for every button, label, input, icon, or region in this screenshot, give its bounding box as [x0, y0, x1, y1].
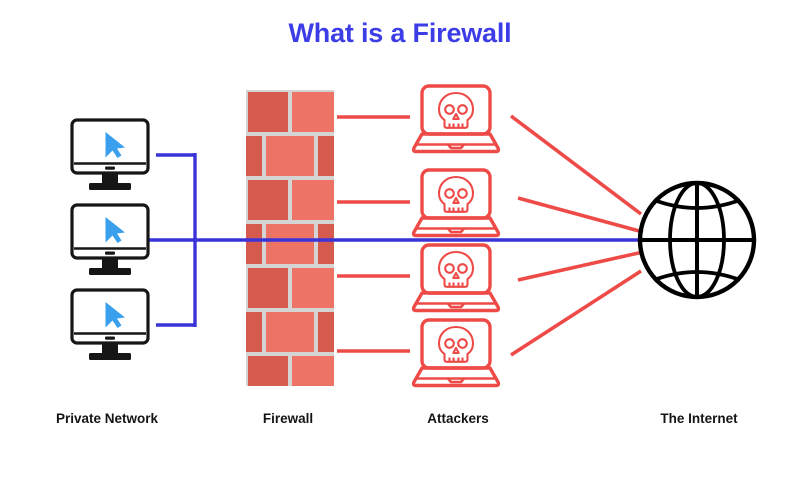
attacker-devices [414, 86, 499, 386]
label-private-network: Private Network [22, 411, 192, 426]
monitor-3[interactable] [72, 290, 148, 360]
attacker-laptop-4[interactable] [414, 320, 499, 386]
attacker-laptop-3[interactable] [414, 245, 499, 311]
firewall-diagram [0, 0, 800, 480]
globe-icon[interactable] [640, 183, 754, 297]
attacker-to-internet-links [511, 116, 643, 355]
label-the-internet: The Internet [610, 411, 788, 426]
private-network-devices [72, 120, 148, 360]
private-network-bus [148, 153, 645, 327]
monitor-1[interactable] [72, 120, 148, 190]
label-firewall: Firewall [215, 411, 361, 426]
label-attackers: Attackers [380, 411, 536, 426]
monitor-2[interactable] [72, 205, 148, 275]
diagram-canvas: What is a Firewall [0, 0, 800, 480]
firewall-to-attacker-links [337, 117, 410, 351]
firewall-brick-wall [240, 90, 340, 386]
attacker-laptop-1[interactable] [414, 86, 499, 152]
attacker-laptop-2[interactable] [414, 170, 499, 236]
